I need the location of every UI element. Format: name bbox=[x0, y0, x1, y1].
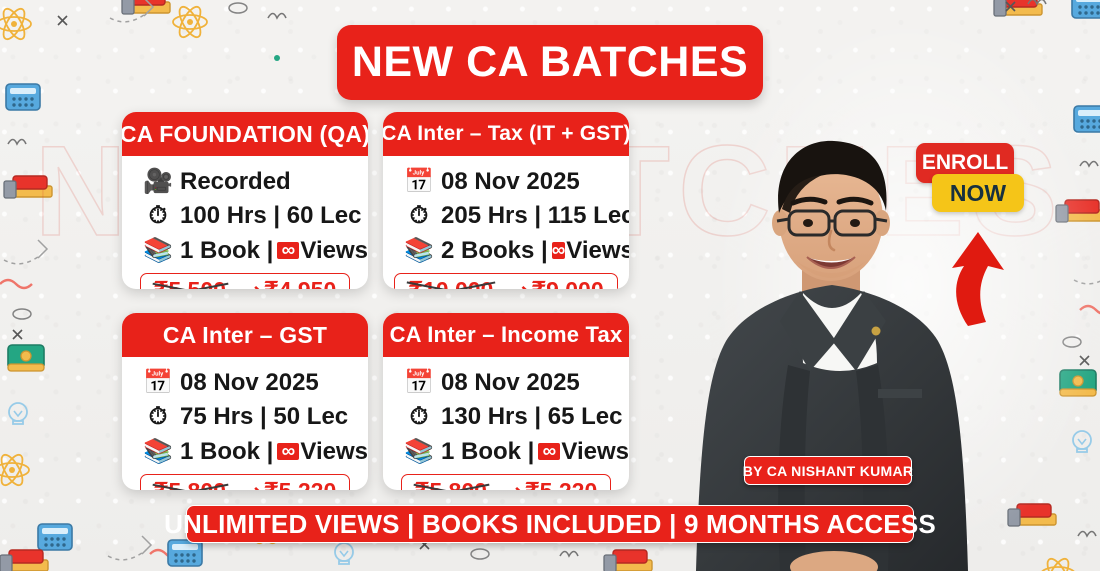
card-row-duration-text: 75 Hrs | 50 Lec bbox=[180, 403, 348, 431]
card-row-books-text: 1 Book | bbox=[441, 438, 534, 466]
card-row-date: 📅 08 Nov 2025 bbox=[383, 164, 629, 199]
card-title: CA Inter – Income Tax bbox=[390, 322, 623, 348]
course-card-ca-inter-gst[interactable]: CA Inter – GST 📅 08 Nov 2025 ⏱ 75 Hrs | … bbox=[122, 313, 368, 490]
books-icon: 📚 bbox=[405, 437, 433, 466]
card-row-books-text: 1 Book | bbox=[180, 438, 273, 466]
stopwatch-icon: ⏱ bbox=[405, 403, 433, 431]
card-row-duration-text: 130 Hrs | 65 Lec bbox=[441, 403, 623, 431]
card-row-date: 📅 08 Nov 2025 bbox=[383, 365, 629, 400]
price-pill: ₹5,800 ⟶ ₹5,220 bbox=[140, 474, 351, 490]
card-header: CA Inter – Tax (IT + GST) bbox=[383, 112, 629, 156]
card-row-views-text: Views bbox=[300, 438, 368, 466]
infinity-icon: ∞ bbox=[552, 242, 566, 259]
infinity-icon: ∞ bbox=[277, 242, 299, 259]
card-row-duration: ⏱ 205 Hrs | 115 Lec bbox=[383, 199, 629, 233]
card-body: 📅 08 Nov 2025 ⏱ 75 Hrs | 50 Lec 📚 1 Book… bbox=[122, 357, 368, 490]
price-pill: ₹5,800 ⟶ ₹5,220 bbox=[401, 474, 612, 490]
card-row-books: 📚 1 Book | ∞ Views bbox=[122, 233, 368, 268]
new-price: ₹4,950 bbox=[264, 277, 336, 289]
course-card-ca-inter-income-tax[interactable]: CA Inter – Income Tax 📅 08 Nov 2025 ⏱ 13… bbox=[383, 313, 629, 490]
new-price: ₹5,220 bbox=[264, 478, 336, 490]
card-body: 📅 08 Nov 2025 ⏱ 205 Hrs | 115 Lec 📚 2 Bo… bbox=[383, 156, 629, 289]
calendar-icon: 📅 bbox=[405, 167, 433, 196]
price-arrow-icon: ⟶ bbox=[230, 479, 260, 490]
card-row-views-text: Views bbox=[566, 237, 629, 265]
price-pill: ₹10,000 ⟶ ₹9,000 bbox=[394, 273, 617, 289]
card-body: 📅 08 Nov 2025 ⏱ 130 Hrs | 65 Lec 📚 1 Boo… bbox=[383, 357, 629, 490]
course-card-ca-foundation[interactable]: CA FOUNDATION (QA) 🎥 Recorded ⏱ 100 Hrs … bbox=[122, 112, 368, 289]
old-price: ₹5,800 bbox=[415, 478, 487, 490]
video-camera-icon: 🎥 bbox=[144, 167, 172, 196]
card-row-duration: ⏱ 130 Hrs | 65 Lec bbox=[383, 400, 629, 434]
card-body: 🎥 Recorded ⏱ 100 Hrs | 60 Lec 📚 1 Book |… bbox=[122, 156, 368, 289]
poster-title-banner: NEW CA BATCHES bbox=[337, 25, 763, 100]
instructor-name-badge: BY CA NISHANT KUMAR bbox=[744, 456, 912, 485]
new-price: ₹5,220 bbox=[525, 478, 597, 490]
card-row-duration-text: 205 Hrs | 115 Lec bbox=[441, 202, 629, 230]
card-row-date: 📅 08 Nov 2025 bbox=[122, 365, 368, 400]
card-row-books-text: 1 Book | bbox=[180, 237, 273, 265]
card-row-duration: ⏱ 75 Hrs | 50 Lec bbox=[122, 400, 368, 434]
price-arrow-icon: ⟶ bbox=[230, 278, 260, 289]
card-row-books: 📚 1 Book | ∞ Views bbox=[122, 434, 368, 469]
old-price: ₹5,500 bbox=[154, 277, 226, 289]
card-header: CA Inter – GST bbox=[122, 313, 368, 357]
card-title: CA Inter – GST bbox=[163, 322, 327, 349]
enroll-now-badge[interactable]: ENROLL NOW bbox=[910, 143, 1030, 221]
poster-canvas: NEW BATCHES NEW CA BATCHES CA FOUNDATION… bbox=[0, 0, 1100, 571]
books-icon: 📚 bbox=[144, 437, 172, 466]
instructor-name: BY CA NISHANT KUMAR bbox=[743, 463, 914, 479]
price-arrow-icon: ⟶ bbox=[491, 479, 521, 490]
old-price: ₹5,800 bbox=[154, 478, 226, 490]
stopwatch-icon: ⏱ bbox=[144, 202, 172, 230]
card-title: CA FOUNDATION (QA) bbox=[122, 121, 368, 148]
calendar-icon: 📅 bbox=[144, 368, 172, 397]
features-banner: UNLIMITED VIEWS | BOOKS INCLUDED | 9 MON… bbox=[186, 505, 914, 543]
price-pill: ₹5,500 ⟶ ₹4,950 bbox=[140, 273, 351, 289]
card-row-books: 📚 1 Book | ∞ Views bbox=[383, 434, 629, 469]
card-row-books: 📚 2 Books | ∞ Views bbox=[383, 233, 629, 268]
books-icon: 📚 bbox=[405, 236, 433, 265]
now-label: NOW bbox=[932, 174, 1024, 212]
card-header: CA FOUNDATION (QA) bbox=[122, 112, 368, 156]
infinity-icon: ∞ bbox=[538, 443, 560, 460]
stopwatch-icon: ⏱ bbox=[144, 403, 172, 431]
price-arrow-icon: ⟶ bbox=[497, 278, 527, 289]
card-row-books-text: 2 Books | bbox=[441, 237, 548, 265]
card-row-duration-text: 100 Hrs | 60 Lec bbox=[180, 202, 362, 230]
course-card-ca-inter-tax[interactable]: CA Inter – Tax (IT + GST) 📅 08 Nov 2025 … bbox=[383, 112, 629, 289]
card-row-format-text: Recorded bbox=[180, 168, 291, 196]
card-row-format: 🎥 Recorded bbox=[122, 164, 368, 199]
card-header: CA Inter – Income Tax bbox=[383, 313, 629, 357]
page-title: NEW CA BATCHES bbox=[352, 38, 748, 87]
card-title: CA Inter – Tax (IT + GST) bbox=[383, 122, 629, 146]
books-icon: 📚 bbox=[144, 236, 172, 265]
features-banner-text: UNLIMITED VIEWS | BOOKS INCLUDED | 9 MON… bbox=[164, 509, 936, 540]
card-row-duration: ⏱ 100 Hrs | 60 Lec bbox=[122, 199, 368, 233]
new-price: ₹9,000 bbox=[531, 277, 603, 289]
card-row-date-text: 08 Nov 2025 bbox=[441, 168, 580, 196]
card-row-views-text: Views bbox=[561, 438, 629, 466]
curved-up-arrow-icon bbox=[938, 228, 1024, 328]
infinity-icon: ∞ bbox=[277, 443, 299, 460]
calendar-icon: 📅 bbox=[405, 368, 433, 397]
stopwatch-icon: ⏱ bbox=[405, 202, 433, 230]
card-row-views-text: Views bbox=[300, 237, 368, 265]
old-price: ₹10,000 bbox=[408, 277, 493, 289]
card-row-date-text: 08 Nov 2025 bbox=[180, 369, 319, 397]
card-row-date-text: 08 Nov 2025 bbox=[441, 369, 580, 397]
